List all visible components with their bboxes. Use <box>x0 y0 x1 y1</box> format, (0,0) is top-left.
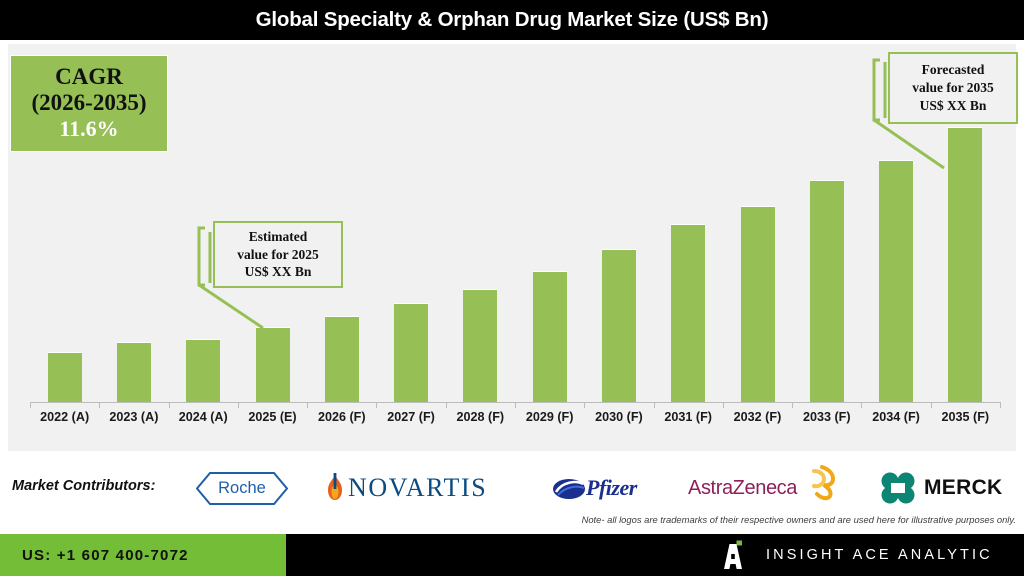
callout-estimated-2025: Estimated value for 2025 US$ XX Bn <box>213 221 343 288</box>
trademark-note: Note- all logos are trademarks of their … <box>582 514 1016 525</box>
callout-forecasted-line2: value for 2035 <box>912 79 994 97</box>
merck-wordmark: MERCK <box>924 476 1003 500</box>
astrazeneca-wordmark: AstraZeneca <box>688 477 797 500</box>
logo-novartis: NOVARTIS <box>322 468 528 508</box>
leader-bracket-2025 <box>199 228 205 285</box>
callout-estimated-line2: value for 2025 <box>237 246 319 264</box>
astrazeneca-ribbon-icon <box>802 465 836 501</box>
callout-forecasted-line3: US$ XX Bn <box>920 97 987 115</box>
novartis-flame-icon <box>322 473 348 503</box>
footer-phone[interactable]: US: +1 607 400-7072 <box>22 547 189 564</box>
merck-clover-icon <box>878 470 918 506</box>
callout-forecasted-line1: Forecasted <box>922 61 985 79</box>
callout-estimated-line3: US$ XX Bn <box>245 263 312 281</box>
leader-line-2035 <box>874 120 944 168</box>
logo-roche: Roche <box>196 468 288 508</box>
leader-bracket-2035 <box>874 60 880 120</box>
novartis-wordmark: NOVARTIS <box>348 473 487 503</box>
footer-bar: US: +1 607 400-7072 INSIGHT ACE ANALYTIC <box>0 534 1024 576</box>
infographic-root: Global Specialty & Orphan Drug Market Si… <box>0 0 1024 576</box>
footer-brand-name: INSIGHT ACE ANALYTIC <box>766 547 993 563</box>
callout-forecasted-2035: Forecasted value for 2035 US$ XX Bn <box>888 52 1018 124</box>
logo-merck: MERCK <box>878 468 1012 508</box>
leader-line-2025 <box>199 285 263 328</box>
footer-contact-block: US: +1 607 400-7072 <box>0 534 286 576</box>
logo-astrazeneca: AstraZeneca <box>688 468 836 508</box>
market-contributors-strip: Market Contributors: Roche NOVARTIS <box>0 451 1024 534</box>
pfizer-wordmark: Pfizer <box>586 475 637 501</box>
footer-branding: INSIGHT ACE ANALYTIC <box>718 534 993 576</box>
contributors-label: Market Contributors: <box>12 478 155 494</box>
pfizer-oval-icon <box>552 476 586 502</box>
roche-wordmark: Roche <box>196 472 288 505</box>
logo-pfizer: Pfizer <box>552 468 652 508</box>
roche-hexagon-icon: Roche <box>196 472 288 505</box>
insightace-logo-icon <box>718 540 748 570</box>
callout-estimated-line1: Estimated <box>249 228 308 246</box>
